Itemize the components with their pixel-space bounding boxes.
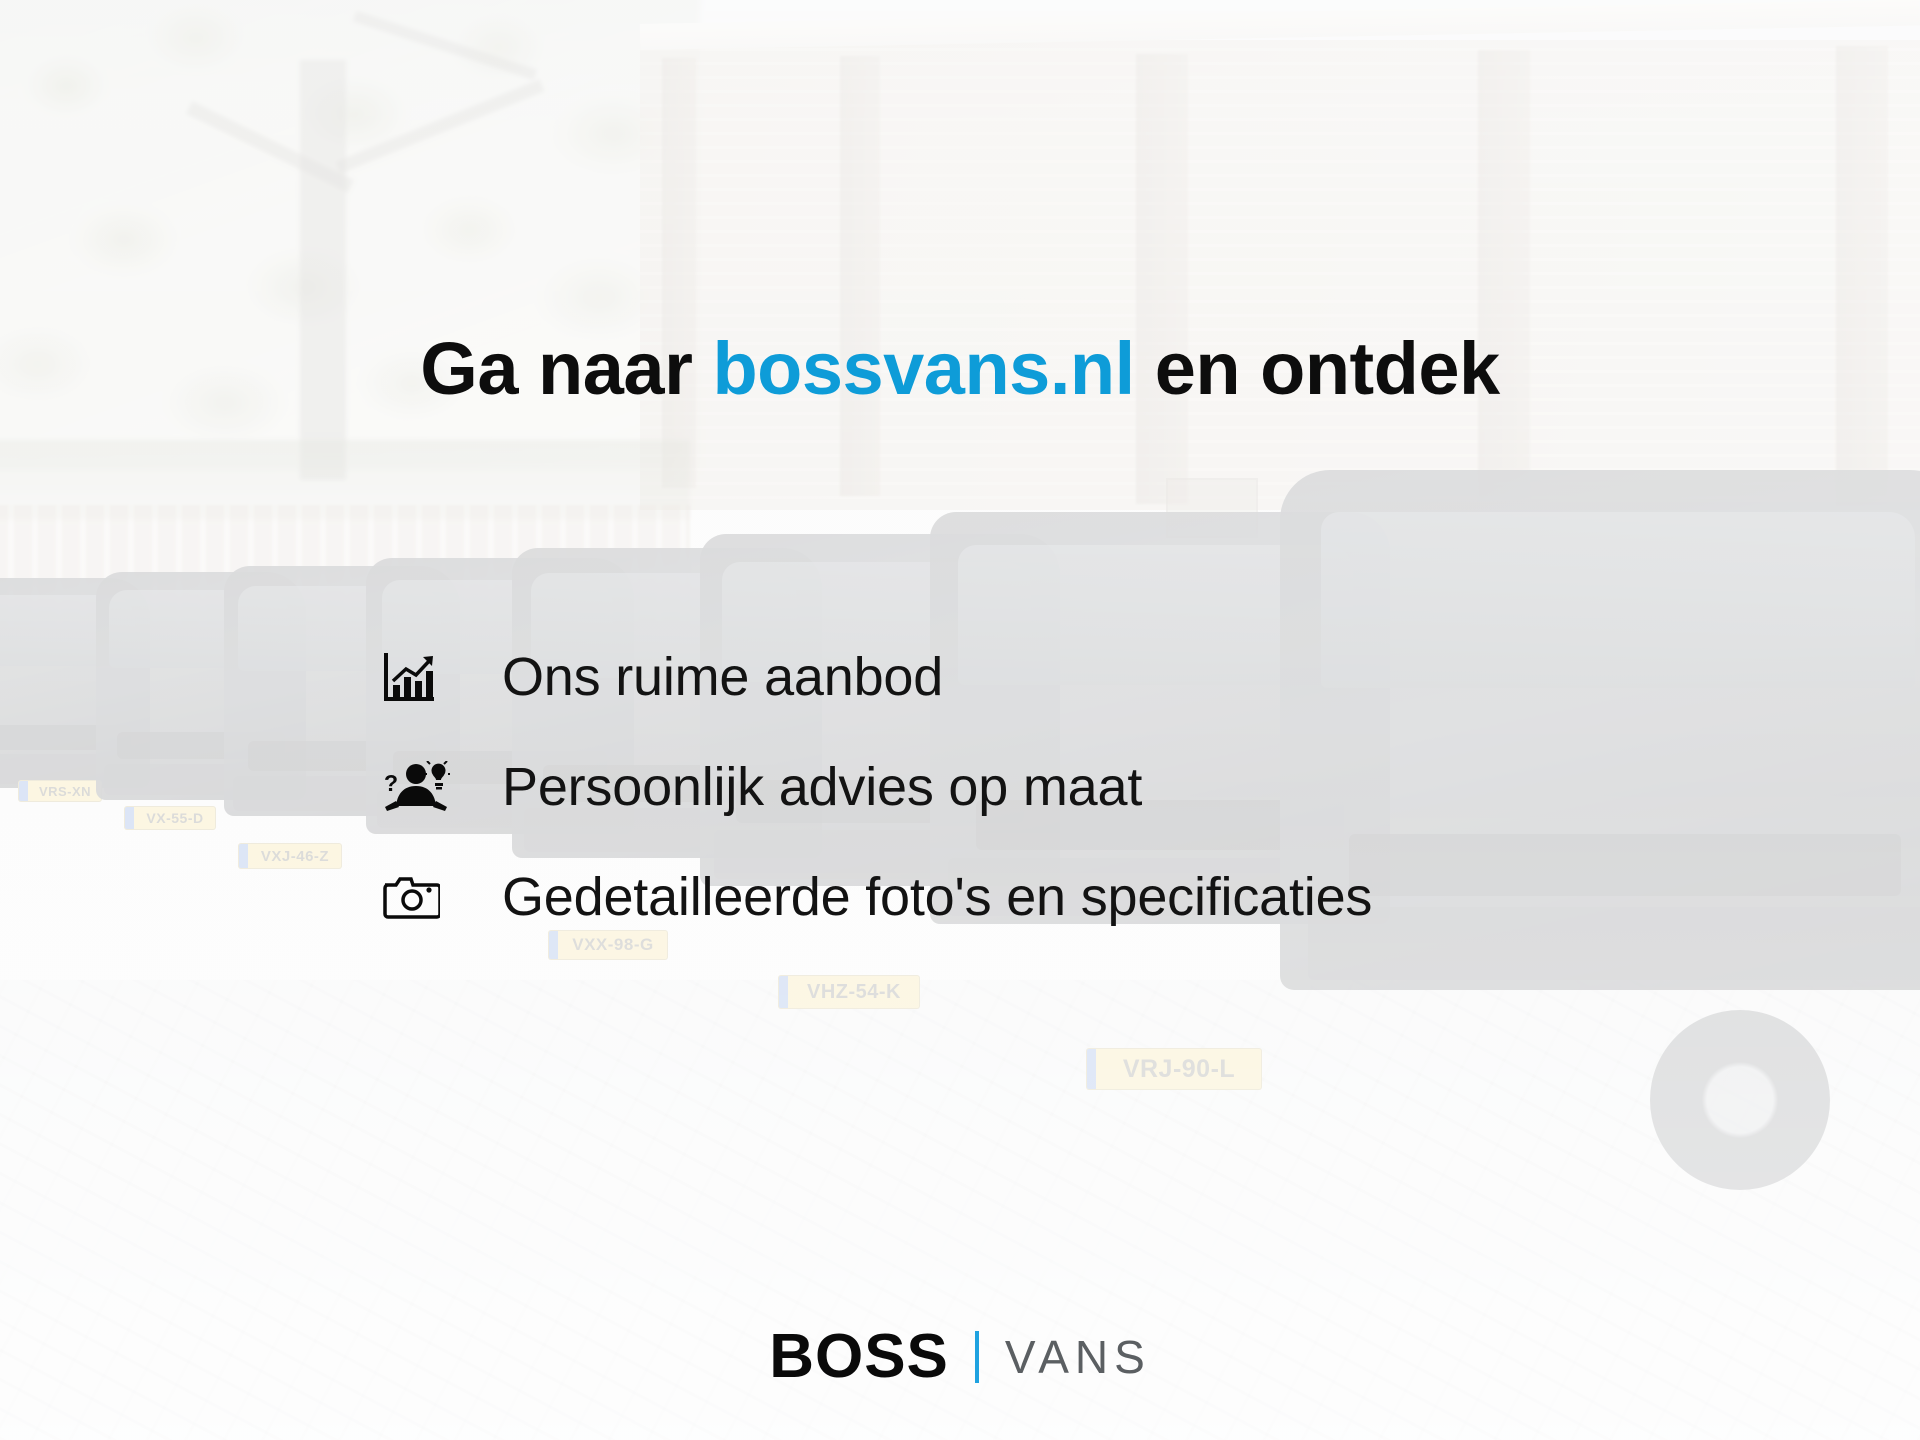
headline-brand: bossvans.nl xyxy=(712,327,1134,410)
list-item-label: Ons ruime aanbod xyxy=(456,646,943,708)
logo-divider xyxy=(975,1331,979,1383)
list-item-label: Persoonlijk advies op maat xyxy=(456,756,1142,818)
list-item: ? Persoonlijk advies op maat xyxy=(382,732,1682,842)
benefit-list: Ons ruime aanbod ? Pe xyxy=(382,622,1682,952)
headline-suffix: en ontdek xyxy=(1135,327,1500,410)
svg-text:?: ? xyxy=(384,770,398,796)
person-advice-icon: ? xyxy=(382,756,456,818)
camera-icon xyxy=(382,866,456,928)
list-item: Ons ruime aanbod xyxy=(382,622,1682,732)
list-item-label: Gedetailleerde foto's en specificaties xyxy=(456,866,1372,928)
logo: BOSS VANS xyxy=(0,1326,1920,1388)
list-item: Gedetailleerde foto's en specificaties xyxy=(382,842,1682,952)
slide-content: Ga naar bossvans.nl en ontdek Ons ruime … xyxy=(0,0,1920,1440)
marketing-slide: VRS-XN VX-55-D VXJ-46-Z VXX-98-G VHZ-54-… xyxy=(0,0,1920,1440)
headline-prefix: Ga naar xyxy=(420,327,712,410)
logo-vans-text: VANS xyxy=(1005,1334,1151,1380)
page-title: Ga naar bossvans.nl en ontdek xyxy=(0,326,1920,411)
logo-boss-text: BOSS xyxy=(769,1326,949,1388)
bar-chart-growth-icon xyxy=(382,646,456,708)
